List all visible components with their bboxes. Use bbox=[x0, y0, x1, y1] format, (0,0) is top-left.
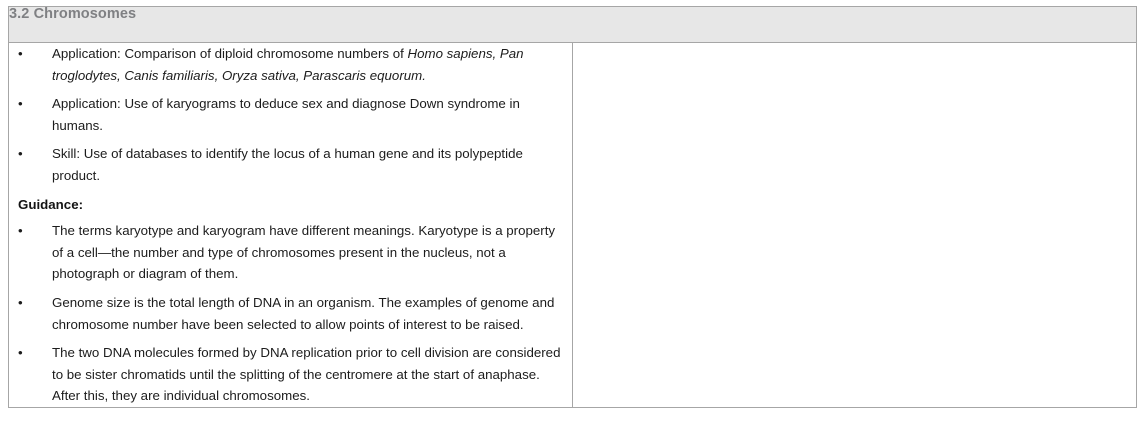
bullet-dot-icon: • bbox=[9, 43, 52, 65]
list-item: • The two DNA molecules formed by DNA re… bbox=[9, 342, 572, 407]
table-header-row: 3.2 Chromosomes bbox=[9, 7, 1137, 43]
list-item-text: Genome size is the total length of DNA i… bbox=[52, 292, 572, 335]
notes-cell-empty bbox=[573, 43, 1137, 408]
list-item: • Genome size is the total length of DNA… bbox=[9, 292, 572, 335]
guidance-heading: Guidance: bbox=[9, 194, 572, 216]
list-item: • Skill: Use of databases to identify th… bbox=[9, 143, 572, 186]
document-page: 3.2 Chromosomes • Application: Compariso… bbox=[0, 0, 1146, 444]
objective-1-lead: Application: Comparison of diploid chrom… bbox=[52, 46, 408, 61]
page-title: 3.2 Chromosomes bbox=[9, 7, 1136, 22]
syllabus-table: 3.2 Chromosomes • Application: Compariso… bbox=[8, 6, 1137, 408]
bullet-dot-icon: • bbox=[9, 292, 52, 314]
bullet-dot-icon: • bbox=[9, 342, 52, 364]
bullet-dot-icon: • bbox=[9, 143, 52, 165]
list-item-text: Application: Use of karyograms to deduce… bbox=[52, 93, 572, 136]
syllabus-content-cell: • Application: Comparison of diploid chr… bbox=[9, 43, 573, 408]
list-item: • Application: Use of karyograms to dedu… bbox=[9, 93, 572, 136]
list-item: • The terms karyotype and karyogram have… bbox=[9, 220, 572, 285]
table-body-row: • Application: Comparison of diploid chr… bbox=[9, 43, 1137, 408]
list-item: • Application: Comparison of diploid chr… bbox=[9, 43, 572, 86]
list-item-text: Application: Comparison of diploid chrom… bbox=[52, 43, 572, 86]
bullet-dot-icon: • bbox=[9, 220, 52, 242]
section-header-cell: 3.2 Chromosomes bbox=[9, 7, 1137, 43]
list-item-text: The terms karyotype and karyogram have d… bbox=[52, 220, 572, 285]
bullet-dot-icon: • bbox=[9, 93, 52, 115]
list-item-text: Skill: Use of databases to identify the … bbox=[52, 143, 572, 186]
content-list: • Application: Comparison of diploid chr… bbox=[9, 43, 572, 407]
list-item-text: The two DNA molecules formed by DNA repl… bbox=[52, 342, 572, 407]
